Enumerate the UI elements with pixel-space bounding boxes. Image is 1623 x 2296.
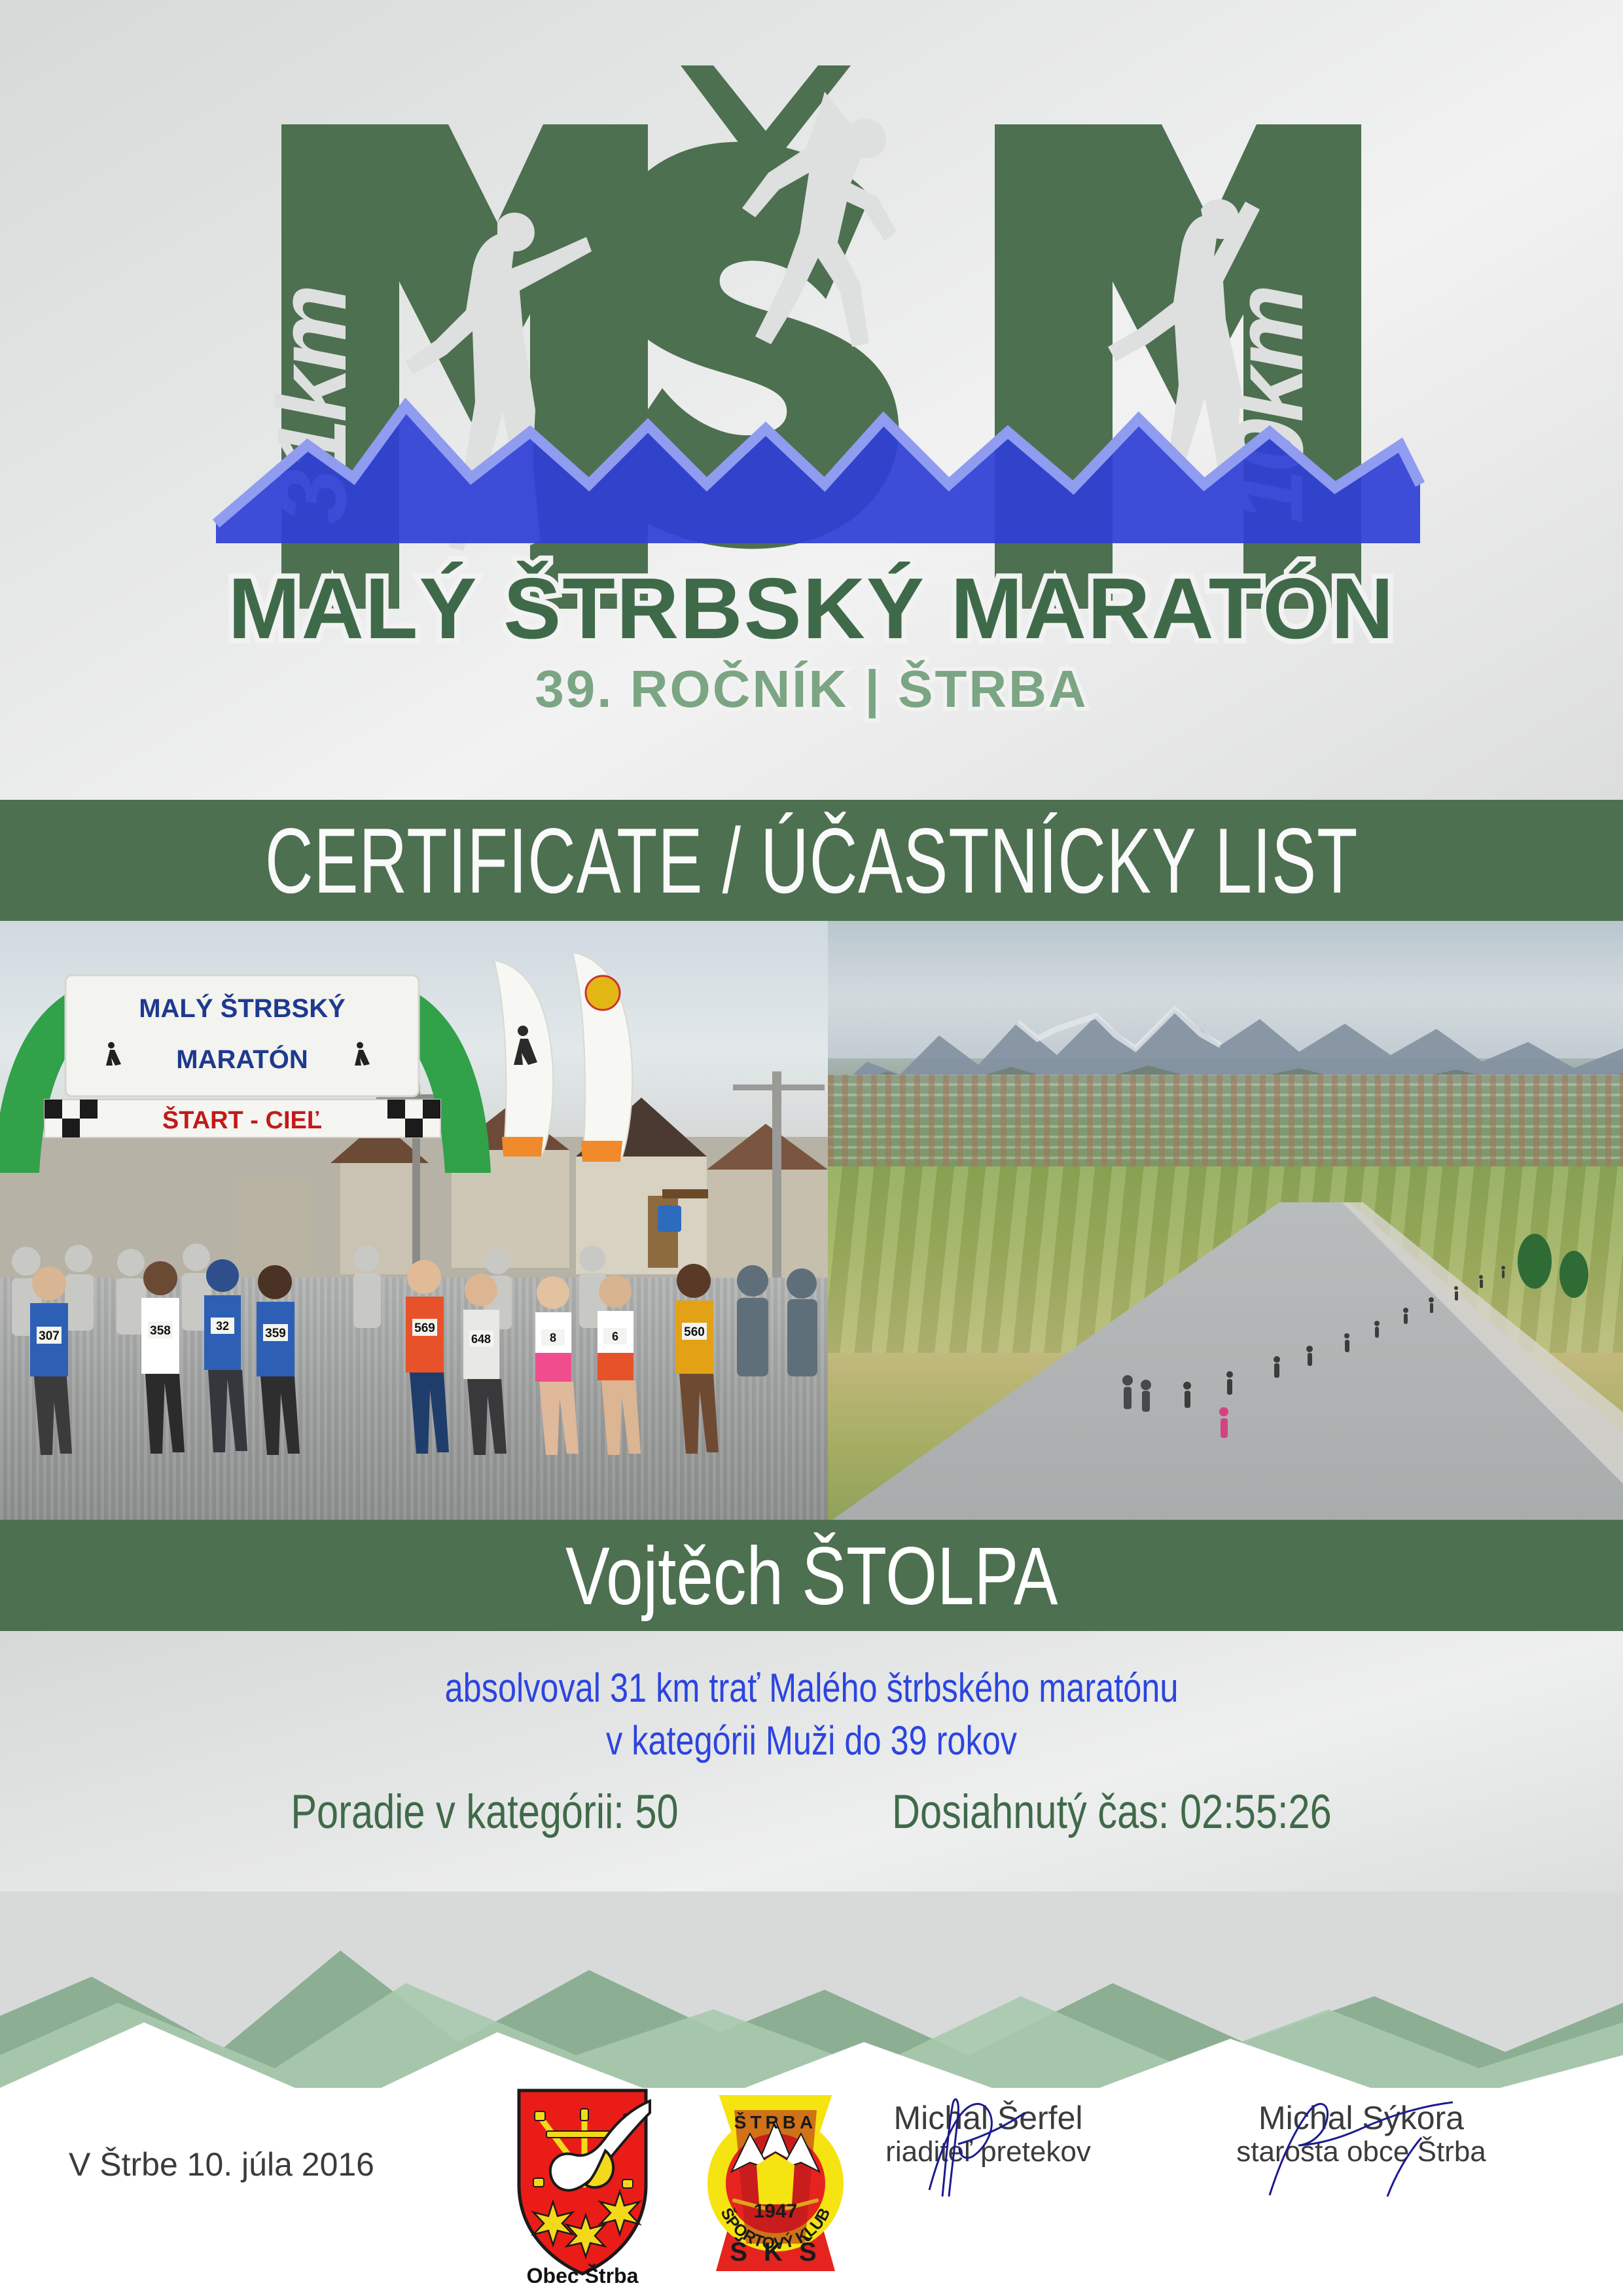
bib-number: 358 [150,1324,171,1338]
photo-start-line: MALÝ ŠTRBSKÝ MARATÓN [0,921,828,1520]
place-and-date: V Štrbe 10. júla 2016 [69,2145,374,2183]
header-logo-area: 31km 10km [0,0,1623,800]
msm-logo-svg: 31km 10km [190,26,1433,798]
crest-label: Obec Štrba [527,2264,639,2283]
signature-block-mayor: Michal Sýkora starosta obce Štrba [1191,2101,1531,2168]
msm-logo: 31km 10km [190,26,1433,798]
achievement-line-2: v kategórii Muži do 39 rokov [24,1715,1599,1767]
runner-group-back [12,1244,607,1336]
bib-number: 8 [550,1331,556,1344]
bib-number: 560 [684,1325,705,1339]
event-subtitle: 39. ROČNÍK | ŠTRBA [535,660,1088,719]
finish-time: Dosiahnutý čas: 02:55:26 [892,1785,1332,1840]
achievement-text: absolvoval 31 km trať Malého štrbského m… [0,1662,1623,1767]
arch-text-line2: MARATÓN [176,1044,308,1074]
signature-mark-mayor [1191,2098,1531,2197]
bib-number: 648 [471,1333,491,1346]
bib-number: 359 [265,1327,286,1340]
feather-flag-right [560,952,641,1162]
arch-banner [65,975,419,1096]
runner-row-front: 307 358 [30,1259,817,1455]
bib-number: 6 [612,1330,618,1343]
sks-mini-crest [586,976,620,1010]
bib-number: 569 [414,1321,435,1335]
sks-bottom-text: Š K Š [730,2236,821,2267]
achievement-line-1: absolvoval 31 km trať Malého štrbského m… [24,1662,1599,1715]
feather-flag-left [481,960,563,1157]
photo-strip: MALÝ ŠTRBSKÝ MARATÓN [0,921,1623,1520]
certificate-page: 31km 10km [0,0,1623,2296]
arch-text-line3: ŠTART - CIEĽ [162,1105,322,1134]
category-rank: Poradie v kategórii: 50 [291,1785,678,1840]
participant-name-band: Vojtěch ŠTOLPA [0,1520,1623,1631]
signature-block-director: Michal Šerfel riaditeľ pretekov [818,2101,1158,2168]
bib-number: 307 [39,1329,60,1343]
footer: V Štrbe 10. júla 2016 [0,2003,1623,2296]
results-row: Poradie v kategórii: 50 Dosiahnutý čas: … [0,1785,1623,1840]
certificate-title: CERTIFICATE / ÚČASTNÍCKY LIST [265,807,1358,914]
start-arch: MALÝ ŠTRBSKÝ MARATÓN [0,957,491,1173]
bib-number: 32 [216,1319,229,1333]
arch-text-line1: MALÝ ŠTRBSKÝ [139,993,346,1023]
runner-crowd: 307 358 [0,1235,828,1520]
photo-landscape [828,921,1623,1520]
signature-mark-director [818,2098,1158,2197]
event-title: MALÝ ŠTRBSKÝ MARATÓN [228,560,1395,656]
certificate-title-band: CERTIFICATE / ÚČASTNÍCKY LIST [0,800,1623,921]
sks-year: 1947 [754,2200,798,2222]
municipality-crest-strba: Obec Štrba [507,2087,658,2283]
sks-top-text: ŠTRBA [734,2111,817,2132]
distant-runners [828,921,1623,1520]
participant-name: Vojtěch ŠTOLPA [565,1528,1058,1623]
